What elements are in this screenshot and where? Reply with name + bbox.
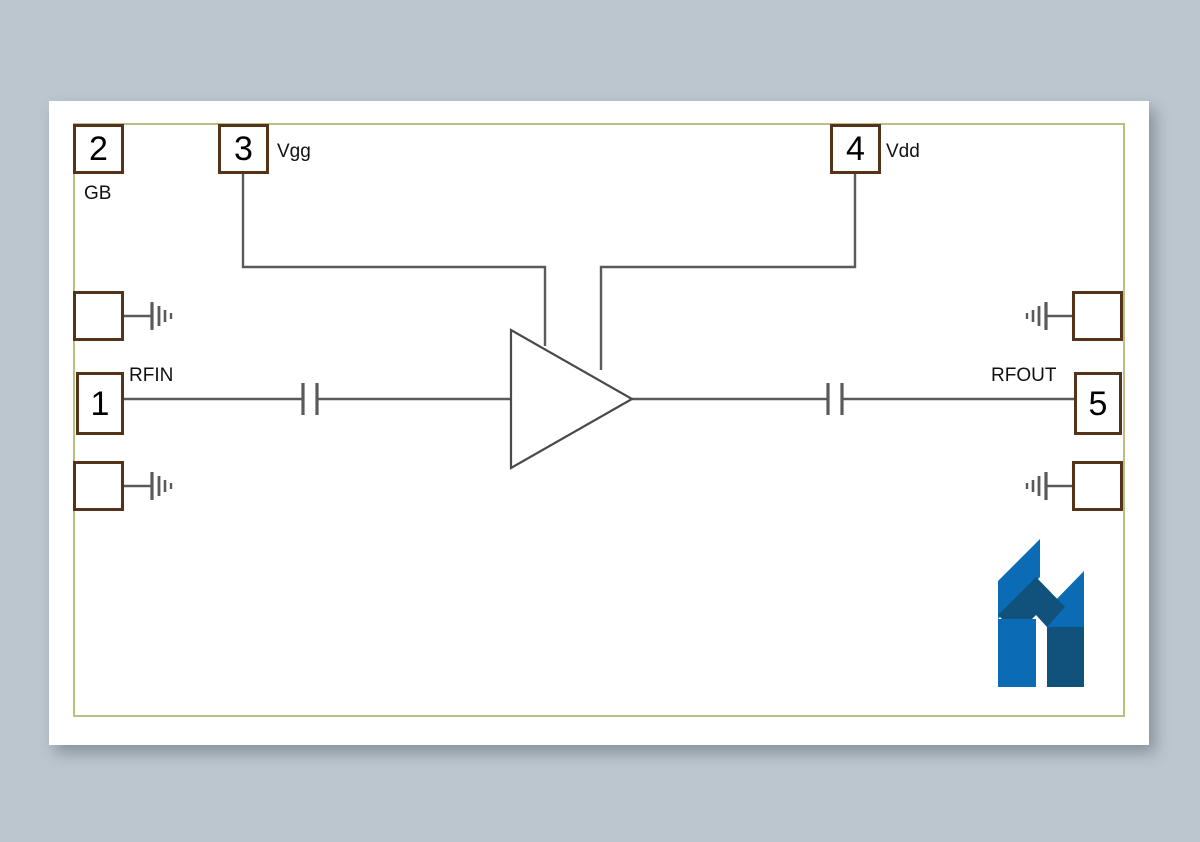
amplifier-triangle bbox=[511, 330, 632, 468]
logo-shape-lower-right bbox=[1047, 627, 1084, 687]
pin-1-rfin[interactable]: 1 bbox=[76, 372, 124, 435]
input-dc-block-capacitor bbox=[303, 383, 317, 415]
wire-vdd bbox=[601, 174, 855, 370]
ground-symbol-top-left bbox=[152, 302, 171, 330]
pin-5-label: RFOUT bbox=[991, 366, 1056, 385]
ground-symbol-bottom-right bbox=[1027, 472, 1046, 500]
ground-pad-top-right[interactable] bbox=[1072, 291, 1123, 341]
pin-5-number: 5 bbox=[1089, 387, 1108, 421]
output-dc-block-capacitor bbox=[828, 383, 842, 415]
ground-pad-top-left[interactable] bbox=[73, 291, 124, 341]
pin-5-rfout[interactable]: 5 bbox=[1074, 372, 1122, 435]
pin-3-vgg[interactable]: 3 bbox=[218, 124, 269, 174]
pin-2-gb[interactable]: 2 bbox=[73, 124, 124, 174]
pin-1-number: 1 bbox=[91, 387, 110, 421]
pin-4-number: 4 bbox=[846, 132, 865, 166]
pin-3-label: Vgg bbox=[277, 142, 311, 161]
ground-symbol-top-right bbox=[1027, 302, 1046, 330]
screenshot-root: 2 3 4 1 5 GB Vgg Vdd RFIN RFOUT bbox=[0, 0, 1200, 842]
pin-4-vdd[interactable]: 4 bbox=[830, 124, 881, 174]
ground-symbol-bottom-left bbox=[152, 472, 171, 500]
logo-shape-lower-left bbox=[998, 619, 1036, 687]
pin-1-label: RFIN bbox=[129, 366, 173, 385]
ground-pad-bottom-left[interactable] bbox=[73, 461, 124, 511]
schematic-drawing-layer bbox=[0, 0, 1200, 842]
pin-4-label: Vdd bbox=[886, 142, 920, 161]
pin-2-number: 2 bbox=[89, 132, 108, 166]
pin-2-label: GB bbox=[84, 184, 111, 203]
wire-vgg bbox=[243, 174, 545, 346]
pin-3-number: 3 bbox=[234, 132, 253, 166]
company-logo bbox=[992, 535, 1090, 690]
ground-pad-bottom-right[interactable] bbox=[1072, 461, 1123, 511]
